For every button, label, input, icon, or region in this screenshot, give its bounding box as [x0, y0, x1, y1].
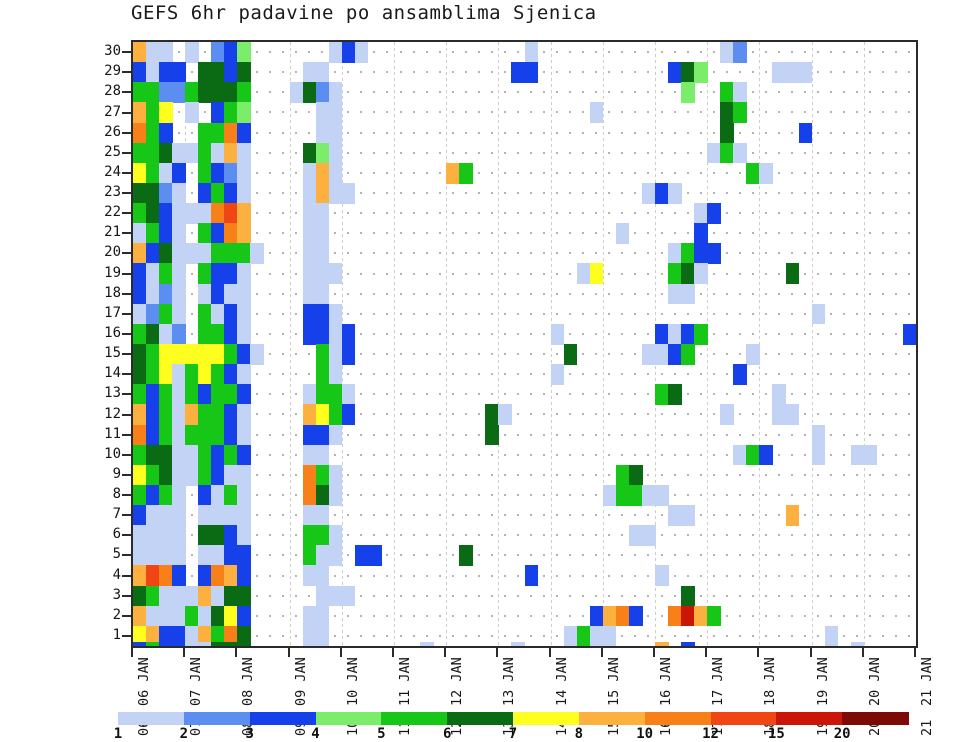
heatmap-cell[interactable] — [146, 404, 160, 425]
heatmap-cell[interactable] — [198, 263, 212, 284]
heatmap-cell[interactable] — [133, 223, 147, 244]
heatmap-cell[interactable] — [211, 143, 225, 164]
heatmap-cell[interactable] — [485, 425, 499, 446]
heatmap-cell[interactable] — [133, 163, 147, 184]
heatmap-cell[interactable] — [786, 505, 800, 526]
heatmap-cell[interactable] — [237, 485, 251, 506]
heatmap-cell[interactable] — [668, 284, 682, 305]
heatmap-cell[interactable] — [172, 505, 186, 526]
heatmap-cell[interactable] — [303, 425, 317, 446]
heatmap-cell[interactable] — [681, 62, 695, 83]
heatmap-cell[interactable] — [224, 525, 238, 546]
heatmap-cell[interactable] — [185, 384, 199, 405]
heatmap-cell[interactable] — [159, 263, 173, 284]
heatmap-cell[interactable] — [237, 364, 251, 385]
heatmap-cell[interactable] — [211, 586, 225, 607]
heatmap-cell[interactable] — [329, 102, 343, 123]
heatmap-cell[interactable] — [133, 102, 147, 123]
heatmap-cell[interactable] — [224, 163, 238, 184]
heatmap-cell[interactable] — [185, 364, 199, 385]
heatmap-cell[interactable] — [133, 445, 147, 466]
heatmap-cell[interactable] — [303, 545, 317, 566]
heatmap-cell[interactable] — [694, 606, 708, 627]
heatmap-cell[interactable] — [198, 183, 212, 204]
heatmap-cell[interactable] — [211, 404, 225, 425]
heatmap-cell[interactable] — [172, 565, 186, 586]
heatmap-cell[interactable] — [290, 82, 304, 103]
heatmap-cell[interactable] — [525, 62, 539, 83]
heatmap-cell[interactable] — [864, 445, 878, 466]
heatmap-cell[interactable] — [172, 465, 186, 486]
heatmap-cell[interactable] — [237, 203, 251, 224]
heatmap-cell[interactable] — [694, 223, 708, 244]
heatmap-cell[interactable] — [812, 445, 826, 466]
heatmap-cell[interactable] — [224, 62, 238, 83]
heatmap-cell[interactable] — [211, 62, 225, 83]
heatmap-cell[interactable] — [342, 42, 356, 63]
heatmap-cell[interactable] — [172, 404, 186, 425]
heatmap-cell[interactable] — [224, 102, 238, 123]
heatmap-cell[interactable] — [303, 465, 317, 486]
heatmap-cell[interactable] — [159, 344, 173, 365]
heatmap-cell[interactable] — [629, 485, 643, 506]
heatmap-cell[interactable] — [237, 183, 251, 204]
heatmap-cell[interactable] — [211, 223, 225, 244]
heatmap-cell[interactable] — [185, 143, 199, 164]
heatmap-cell[interactable] — [237, 404, 251, 425]
colorbar[interactable]: 1234567810121520 — [118, 712, 908, 742]
heatmap-cell[interactable] — [185, 445, 199, 466]
heatmap-cell[interactable] — [172, 223, 186, 244]
heatmap-cell[interactable] — [211, 183, 225, 204]
heatmap-cell[interactable] — [133, 62, 147, 83]
heatmap-cell[interactable] — [237, 384, 251, 405]
heatmap-cell[interactable] — [342, 586, 356, 607]
heatmap-cell[interactable] — [133, 263, 147, 284]
heatmap-cell[interactable] — [237, 284, 251, 305]
heatmap-cell[interactable] — [198, 243, 212, 264]
heatmap-cell[interactable] — [681, 263, 695, 284]
heatmap-cell[interactable] — [133, 465, 147, 486]
heatmap-cell[interactable] — [590, 263, 604, 284]
heatmap-cell[interactable] — [224, 505, 238, 526]
heatmap-cell[interactable] — [316, 304, 330, 325]
heatmap-cell[interactable] — [159, 102, 173, 123]
heatmap-cell[interactable] — [198, 545, 212, 566]
heatmap-cell[interactable] — [211, 485, 225, 506]
heatmap-cell[interactable] — [316, 102, 330, 123]
heatmap-cell[interactable] — [159, 123, 173, 144]
heatmap-cell[interactable] — [133, 243, 147, 264]
heatmap-cell[interactable] — [133, 304, 147, 325]
heatmap-cell[interactable] — [211, 445, 225, 466]
heatmap-cell[interactable] — [172, 525, 186, 546]
heatmap-cell[interactable] — [146, 586, 160, 607]
heatmap-cell[interactable] — [211, 364, 225, 385]
heatmap-cell[interactable] — [303, 505, 317, 526]
heatmap-cell[interactable] — [237, 223, 251, 244]
heatmap-cell[interactable] — [642, 344, 656, 365]
heatmap-cell[interactable] — [329, 586, 343, 607]
heatmap-cell[interactable] — [681, 284, 695, 305]
heatmap-cell[interactable] — [655, 565, 669, 586]
heatmap-cell[interactable] — [316, 545, 330, 566]
heatmap-cell[interactable] — [603, 626, 617, 647]
heatmap-cell[interactable] — [146, 324, 160, 345]
heatmap-cell[interactable] — [316, 82, 330, 103]
heatmap-cell[interactable] — [133, 505, 147, 526]
heatmap-cell[interactable] — [303, 223, 317, 244]
heatmap-cell[interactable] — [198, 364, 212, 385]
heatmap-cell[interactable] — [303, 183, 317, 204]
heatmap-cell[interactable] — [224, 223, 238, 244]
heatmap-cell[interactable] — [707, 606, 721, 627]
heatmap-cell[interactable] — [668, 183, 682, 204]
heatmap-cell[interactable] — [211, 263, 225, 284]
heatmap-cell[interactable] — [590, 606, 604, 627]
heatmap-cell[interactable] — [224, 404, 238, 425]
heatmap-cell[interactable] — [159, 465, 173, 486]
heatmap-cell[interactable] — [786, 263, 800, 284]
heatmap-cell[interactable] — [133, 324, 147, 345]
heatmap-cell[interactable] — [146, 123, 160, 144]
heatmap-cell[interactable] — [224, 465, 238, 486]
heatmap-cell[interactable] — [211, 82, 225, 103]
heatmap-cell[interactable] — [720, 123, 734, 144]
heatmap-cell[interactable] — [707, 143, 721, 164]
heatmap-cell[interactable] — [786, 404, 800, 425]
heatmap-cell[interactable] — [211, 42, 225, 63]
heatmap-cell[interactable] — [224, 324, 238, 345]
heatmap-cell[interactable] — [733, 364, 747, 385]
heatmap-cell[interactable] — [146, 243, 160, 264]
heatmap-cell[interactable] — [525, 42, 539, 63]
heatmap-cell[interactable] — [211, 465, 225, 486]
heatmap-cell[interactable] — [564, 344, 578, 365]
heatmap-cell[interactable] — [198, 203, 212, 224]
heatmap-cell[interactable] — [237, 565, 251, 586]
heatmap-cell[interactable] — [668, 384, 682, 405]
heatmap-cell[interactable] — [211, 304, 225, 325]
heatmap-cell[interactable] — [720, 404, 734, 425]
heatmap-cell[interactable] — [316, 586, 330, 607]
heatmap-cell[interactable] — [329, 42, 343, 63]
heatmap-cell[interactable] — [224, 445, 238, 466]
heatmap-cell[interactable] — [172, 626, 186, 647]
heatmap-cell[interactable] — [224, 586, 238, 607]
heatmap-cell[interactable] — [159, 384, 173, 405]
heatmap-cell[interactable] — [224, 243, 238, 264]
heatmap-cell[interactable] — [329, 525, 343, 546]
heatmap-cell[interactable] — [198, 606, 212, 627]
heatmap-cell[interactable] — [172, 243, 186, 264]
heatmap-cell[interactable] — [146, 465, 160, 486]
heatmap-cell[interactable] — [224, 304, 238, 325]
heatmap-cell[interactable] — [316, 324, 330, 345]
heatmap-cell[interactable] — [316, 364, 330, 385]
heatmap-cell[interactable] — [159, 42, 173, 63]
heatmap-cell[interactable] — [185, 344, 199, 365]
heatmap-cell[interactable] — [329, 404, 343, 425]
heatmap-cell[interactable] — [772, 384, 786, 405]
heatmap-cell[interactable] — [237, 42, 251, 63]
heatmap-cell[interactable] — [146, 263, 160, 284]
heatmap-cell[interactable] — [198, 324, 212, 345]
heatmap-cell[interactable] — [224, 123, 238, 144]
heatmap-cell[interactable] — [211, 525, 225, 546]
heatmap-cell[interactable] — [342, 404, 356, 425]
heatmap-cell[interactable] — [159, 62, 173, 83]
heatmap-cell[interactable] — [250, 243, 264, 264]
heatmap-cell[interactable] — [224, 565, 238, 586]
heatmap-cell[interactable] — [146, 102, 160, 123]
heatmap-cell[interactable] — [237, 445, 251, 466]
heatmap-cell[interactable] — [159, 143, 173, 164]
heatmap-cell[interactable] — [694, 62, 708, 83]
heatmap-cell[interactable] — [316, 425, 330, 446]
heatmap-cell[interactable] — [655, 183, 669, 204]
heatmap-cell[interactable] — [146, 183, 160, 204]
heatmap-cell[interactable] — [159, 545, 173, 566]
heatmap-cell[interactable] — [342, 344, 356, 365]
heatmap-cell[interactable] — [733, 143, 747, 164]
heatmap-cell[interactable] — [133, 485, 147, 506]
heatmap-cell[interactable] — [146, 82, 160, 103]
heatmap-cell[interactable] — [668, 324, 682, 345]
heatmap-cell[interactable] — [642, 525, 656, 546]
heatmap-cell[interactable] — [851, 445, 865, 466]
heatmap-cell[interactable] — [146, 143, 160, 164]
heatmap-cell[interactable] — [146, 445, 160, 466]
heatmap-cell[interactable] — [237, 143, 251, 164]
heatmap-cell[interactable] — [903, 324, 917, 345]
heatmap-cell[interactable] — [159, 485, 173, 506]
heatmap-cell[interactable] — [303, 485, 317, 506]
heatmap-cell[interactable] — [172, 384, 186, 405]
heatmap-cell[interactable] — [133, 425, 147, 446]
heatmap-cell[interactable] — [146, 203, 160, 224]
heatmap-cell[interactable] — [146, 606, 160, 627]
heatmap-cell[interactable] — [198, 565, 212, 586]
heatmap-cell[interactable] — [525, 565, 539, 586]
heatmap-cell[interactable] — [198, 284, 212, 305]
heatmap-cell[interactable] — [303, 606, 317, 627]
heatmap-cell[interactable] — [668, 263, 682, 284]
heatmap-cell[interactable] — [185, 586, 199, 607]
heatmap-cell[interactable] — [316, 163, 330, 184]
heatmap-cell[interactable] — [316, 62, 330, 83]
heatmap-cell[interactable] — [211, 102, 225, 123]
heatmap-cell[interactable] — [198, 344, 212, 365]
heatmap-cell[interactable] — [185, 425, 199, 446]
heatmap-cell[interactable] — [198, 404, 212, 425]
heatmap-cell[interactable] — [198, 586, 212, 607]
heatmap-cell[interactable] — [329, 465, 343, 486]
heatmap-cell[interactable] — [551, 324, 565, 345]
heatmap-cell[interactable] — [329, 163, 343, 184]
heatmap-cell[interactable] — [159, 163, 173, 184]
heatmap-cell[interactable] — [146, 62, 160, 83]
heatmap-cell[interactable] — [329, 324, 343, 345]
heatmap-cell[interactable] — [224, 143, 238, 164]
heatmap-cell[interactable] — [303, 304, 317, 325]
heatmap-cell[interactable] — [655, 485, 669, 506]
heatmap-cell[interactable] — [316, 143, 330, 164]
heatmap-cell[interactable] — [668, 243, 682, 264]
heatmap-cell[interactable] — [616, 606, 630, 627]
heatmap-cell[interactable] — [303, 525, 317, 546]
heatmap-cell[interactable] — [329, 304, 343, 325]
heatmap-cell[interactable] — [655, 384, 669, 405]
heatmap-cell[interactable] — [185, 404, 199, 425]
heatmap-cell[interactable] — [303, 143, 317, 164]
heatmap-cell[interactable] — [329, 123, 343, 144]
heatmap-cell[interactable] — [316, 505, 330, 526]
heatmap-cell[interactable] — [237, 123, 251, 144]
heatmap-cell[interactable] — [329, 344, 343, 365]
heatmap-cell[interactable] — [316, 243, 330, 264]
heatmap-cell[interactable] — [237, 82, 251, 103]
heatmap-cell[interactable] — [799, 123, 813, 144]
heatmap-cell[interactable] — [329, 364, 343, 385]
heatmap-cell[interactable] — [316, 404, 330, 425]
heatmap-cell[interactable] — [303, 203, 317, 224]
heatmap-cell[interactable] — [303, 163, 317, 184]
heatmap-plot-area[interactable] — [131, 40, 918, 648]
heatmap-cell[interactable] — [368, 545, 382, 566]
heatmap-cell[interactable] — [316, 626, 330, 647]
heatmap-cell[interactable] — [224, 42, 238, 63]
heatmap-cell[interactable] — [172, 203, 186, 224]
heatmap-cell[interactable] — [198, 304, 212, 325]
heatmap-cell[interactable] — [159, 183, 173, 204]
heatmap-cell[interactable] — [133, 586, 147, 607]
heatmap-cell[interactable] — [198, 223, 212, 244]
heatmap-cell[interactable] — [159, 364, 173, 385]
heatmap-cell[interactable] — [198, 384, 212, 405]
heatmap-cell[interactable] — [185, 82, 199, 103]
heatmap-cell[interactable] — [211, 243, 225, 264]
heatmap-cell[interactable] — [133, 606, 147, 627]
heatmap-cell[interactable] — [316, 203, 330, 224]
heatmap-cell[interactable] — [198, 163, 212, 184]
heatmap-cell[interactable] — [224, 606, 238, 627]
heatmap-cell[interactable] — [198, 525, 212, 546]
heatmap-cell[interactable] — [316, 384, 330, 405]
heatmap-cell[interactable] — [159, 565, 173, 586]
heatmap-cell[interactable] — [185, 606, 199, 627]
heatmap-cell[interactable] — [237, 505, 251, 526]
heatmap-cell[interactable] — [146, 364, 160, 385]
heatmap-cell[interactable] — [198, 425, 212, 446]
heatmap-cell[interactable] — [825, 626, 839, 647]
heatmap-cell[interactable] — [237, 606, 251, 627]
heatmap-cell[interactable] — [655, 324, 669, 345]
heatmap-cell[interactable] — [146, 304, 160, 325]
heatmap-cell[interactable] — [211, 344, 225, 365]
heatmap-cell[interactable] — [668, 344, 682, 365]
heatmap-cell[interactable] — [459, 545, 473, 566]
heatmap-cell[interactable] — [681, 324, 695, 345]
heatmap-cell[interactable] — [211, 545, 225, 566]
heatmap-cell[interactable] — [172, 62, 186, 83]
heatmap-cell[interactable] — [198, 445, 212, 466]
heatmap-cell[interactable] — [133, 183, 147, 204]
heatmap-cell[interactable] — [146, 223, 160, 244]
heatmap-cell[interactable] — [146, 545, 160, 566]
heatmap-cell[interactable] — [237, 465, 251, 486]
heatmap-cell[interactable] — [655, 344, 669, 365]
heatmap-cell[interactable] — [590, 102, 604, 123]
heatmap-cell[interactable] — [720, 102, 734, 123]
heatmap-cell[interactable] — [159, 324, 173, 345]
heatmap-cell[interactable] — [316, 183, 330, 204]
heatmap-cell[interactable] — [146, 384, 160, 405]
heatmap-cell[interactable] — [198, 485, 212, 506]
heatmap-cell[interactable] — [342, 324, 356, 345]
heatmap-cell[interactable] — [198, 465, 212, 486]
heatmap-cell[interactable] — [237, 263, 251, 284]
heatmap-cell[interactable] — [355, 545, 369, 566]
heatmap-cell[interactable] — [172, 425, 186, 446]
heatmap-cell[interactable] — [746, 445, 760, 466]
heatmap-cell[interactable] — [733, 82, 747, 103]
heatmap-cell[interactable] — [172, 263, 186, 284]
heatmap-cell[interactable] — [681, 505, 695, 526]
heatmap-cell[interactable] — [303, 263, 317, 284]
heatmap-cell[interactable] — [629, 606, 643, 627]
heatmap-cell[interactable] — [668, 505, 682, 526]
heatmap-cell[interactable] — [316, 223, 330, 244]
heatmap-cell[interactable] — [681, 344, 695, 365]
heatmap-cell[interactable] — [316, 485, 330, 506]
heatmap-cell[interactable] — [303, 404, 317, 425]
heatmap-cell[interactable] — [146, 505, 160, 526]
heatmap-cell[interactable] — [759, 163, 773, 184]
heatmap-cell[interactable] — [185, 42, 199, 63]
heatmap-cell[interactable] — [224, 284, 238, 305]
heatmap-cell[interactable] — [237, 324, 251, 345]
heatmap-cell[interactable] — [303, 243, 317, 264]
heatmap-cell[interactable] — [329, 263, 343, 284]
heatmap-cell[interactable] — [172, 586, 186, 607]
heatmap-cell[interactable] — [329, 545, 343, 566]
heatmap-cell[interactable] — [237, 545, 251, 566]
heatmap-cell[interactable] — [211, 324, 225, 345]
heatmap-cell[interactable] — [133, 203, 147, 224]
heatmap-cell[interactable] — [577, 626, 591, 647]
heatmap-cell[interactable] — [133, 384, 147, 405]
heatmap-cell[interactable] — [551, 364, 565, 385]
heatmap-cell[interactable] — [211, 505, 225, 526]
heatmap-cell[interactable] — [146, 344, 160, 365]
heatmap-cells[interactable] — [133, 42, 916, 646]
heatmap-cell[interactable] — [133, 364, 147, 385]
heatmap-cell[interactable] — [185, 102, 199, 123]
heatmap-cell[interactable] — [211, 606, 225, 627]
heatmap-cell[interactable] — [211, 123, 225, 144]
heatmap-cell[interactable] — [224, 485, 238, 506]
heatmap-cell[interactable] — [668, 62, 682, 83]
heatmap-cell[interactable] — [694, 324, 708, 345]
heatmap-cell[interactable] — [237, 62, 251, 83]
heatmap-cell[interactable] — [185, 243, 199, 264]
heatmap-cell[interactable] — [146, 525, 160, 546]
heatmap-cell[interactable] — [498, 404, 512, 425]
heatmap-cell[interactable] — [172, 284, 186, 305]
heatmap-cell[interactable] — [316, 465, 330, 486]
heatmap-cell[interactable] — [316, 525, 330, 546]
